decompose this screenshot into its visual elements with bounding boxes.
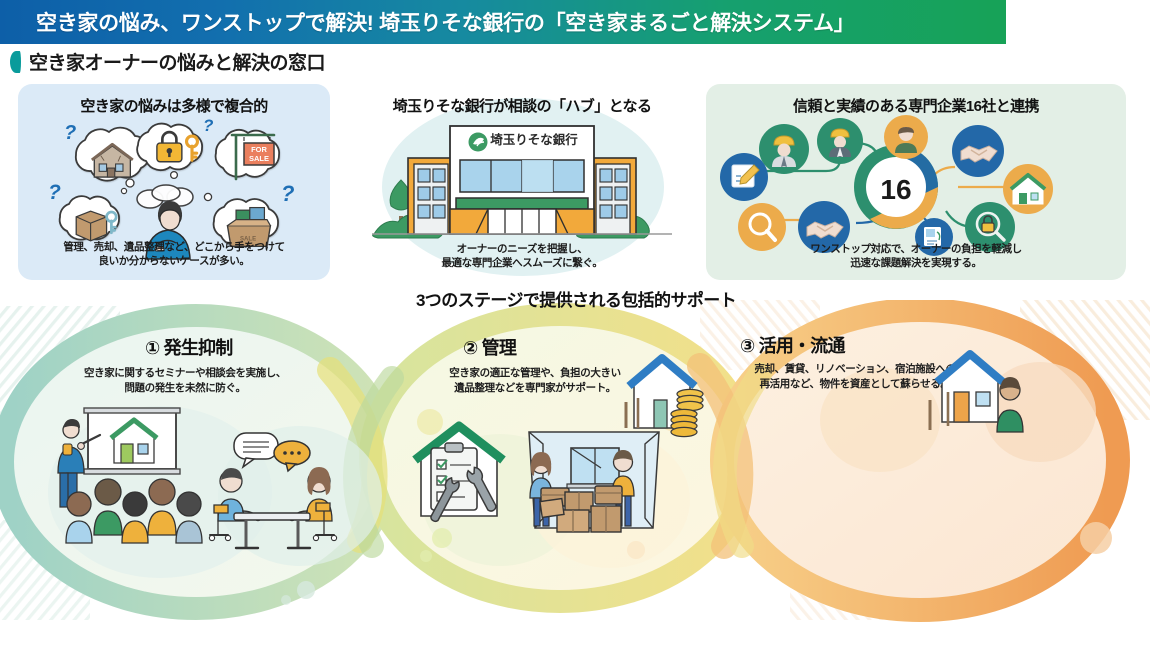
section-header: 空き家オーナーの悩みと解決の窓口 <box>10 48 325 75</box>
card-partners-caption-line2: 迅速な課題解決を実現する。 <box>706 256 1126 270</box>
infographic-page: 空き家の悩み、ワンストップで解決! 埼玉りそな銀行の「空き家まるごと解決システム… <box>0 0 1152 648</box>
page-title: 空き家の悩み、ワンストップで解決! 埼玉りそな銀行の「空き家まるごと解決システム… <box>0 7 854 37</box>
card-partners-title: 信頼と実績のある専門企業16社と連携 <box>706 95 1126 116</box>
stage-1-illustration <box>40 405 360 570</box>
header-bar: 空き家の悩み、ワンストップで解決! 埼玉りそな銀行の「空き家まるごと解決システム… <box>0 0 1006 44</box>
svg-text:?: ? <box>203 117 214 135</box>
svg-text:16: 16 <box>880 174 911 205</box>
sold-house-illustration <box>612 348 722 448</box>
stages-heading: 3つのステージで提供される包括的サポート <box>0 286 1152 311</box>
stage-1-body-line2: 問題の発生を未然に防ぐ。 <box>35 381 335 396</box>
svg-text:埼玉りそな銀行: 埼玉りそな銀行 <box>490 132 578 147</box>
stage-3-title: ③ 活用・流通 <box>740 332 845 358</box>
svg-text:?: ? <box>64 122 76 144</box>
svg-text:SALE: SALE <box>249 154 269 163</box>
partner-network-illustration: 16 <box>706 115 1126 260</box>
stage-1-title: ① 発生抑制 <box>145 334 232 360</box>
card-hub-caption-line1: オーナーのニーズを把握し、 <box>352 242 692 256</box>
card-partners: 信頼と実績のある専門企業16社と連携 16 <box>706 84 1126 280</box>
svg-text:?: ? <box>281 181 294 206</box>
svg-text:FOR: FOR <box>251 145 267 154</box>
svg-text:?: ? <box>48 181 61 204</box>
card-problems-caption-line1: 管理、売却、遺品整理など、どこから手をつけて <box>18 240 330 254</box>
leaf-bullet-icon <box>10 51 21 73</box>
stage-1-body-line1: 空き家に関するセミナーや相談会を実施し、 <box>35 366 335 381</box>
section-title: 空き家オーナーの悩みと解決の窓口 <box>29 48 325 75</box>
card-problems: 空き家の悩みは多様で複合的 <box>18 84 330 280</box>
card-hub-title: 埼玉りそな銀行が相談の「ハブ」となる <box>352 95 692 116</box>
card-hub: 埼玉りそな銀行が相談の「ハブ」となる <box>352 84 692 280</box>
rent-house-illustration <box>918 344 1038 444</box>
stages-section: ① 発生抑制 空き家に関するセミナーや相談会を実施し、 問題の発生を未然に防ぐ。 <box>0 300 1152 630</box>
card-hub-caption-line2: 最適な専門企業へスムーズに繋ぐ。 <box>352 256 692 270</box>
card-partners-caption-line1: ワンストップ対応で、オーナーの負担を軽減し <box>706 242 1126 256</box>
stage-2-title: ② 管理 <box>463 334 516 360</box>
card-problems-caption-line2: 良いか分からないケースが多い。 <box>18 254 330 268</box>
card-problems-title: 空き家の悩みは多様で複合的 <box>18 95 330 116</box>
